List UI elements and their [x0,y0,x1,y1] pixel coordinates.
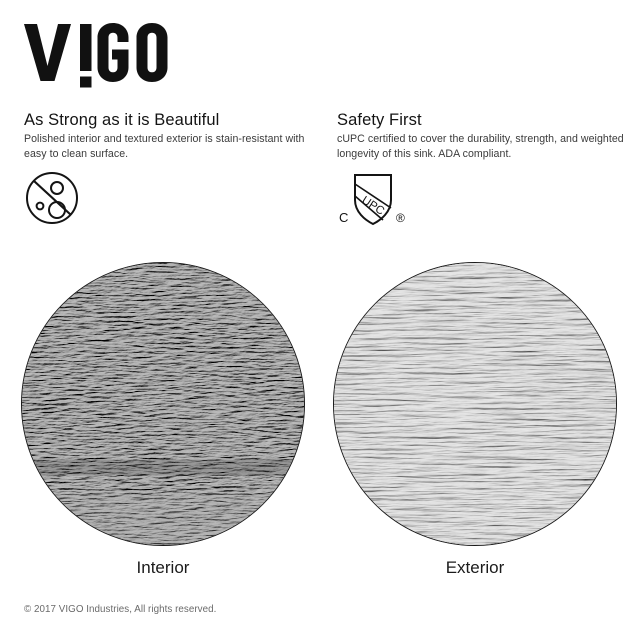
copyright-notice: © 2017 VIGO Industries, All rights reser… [24,603,216,617]
feature-title: Safety First [337,110,626,130]
stain-resistant-icon [24,172,306,228]
swatch-gallery [0,262,640,552]
swatch-interior[interactable] [21,262,305,546]
feature-title: As Strong as it is Beautiful [24,110,306,130]
vigo-logo [24,20,204,90]
feature-columns: As Strong as it is Beautiful Polished in… [0,110,640,228]
caption-interior: Interior [21,556,305,580]
cupc-certified-shield-icon: UPC C ® [337,172,626,228]
caption-exterior: Exterior [333,556,617,580]
feature-body: Polished interior and textured exterior … [24,132,306,161]
badge-registered-mark: ® [396,211,405,225]
feature-strong-beautiful: As Strong as it is Beautiful Polished in… [0,110,320,228]
swatch-captions: Interior Exterior [0,556,640,584]
badge-prefix-mark: C [339,210,348,225]
swatch-exterior[interactable] [333,262,617,546]
feature-body: cUPC certified to cover the durability, … [337,132,626,161]
feature-safety-first: Safety First cUPC certified to cover the… [320,110,640,228]
